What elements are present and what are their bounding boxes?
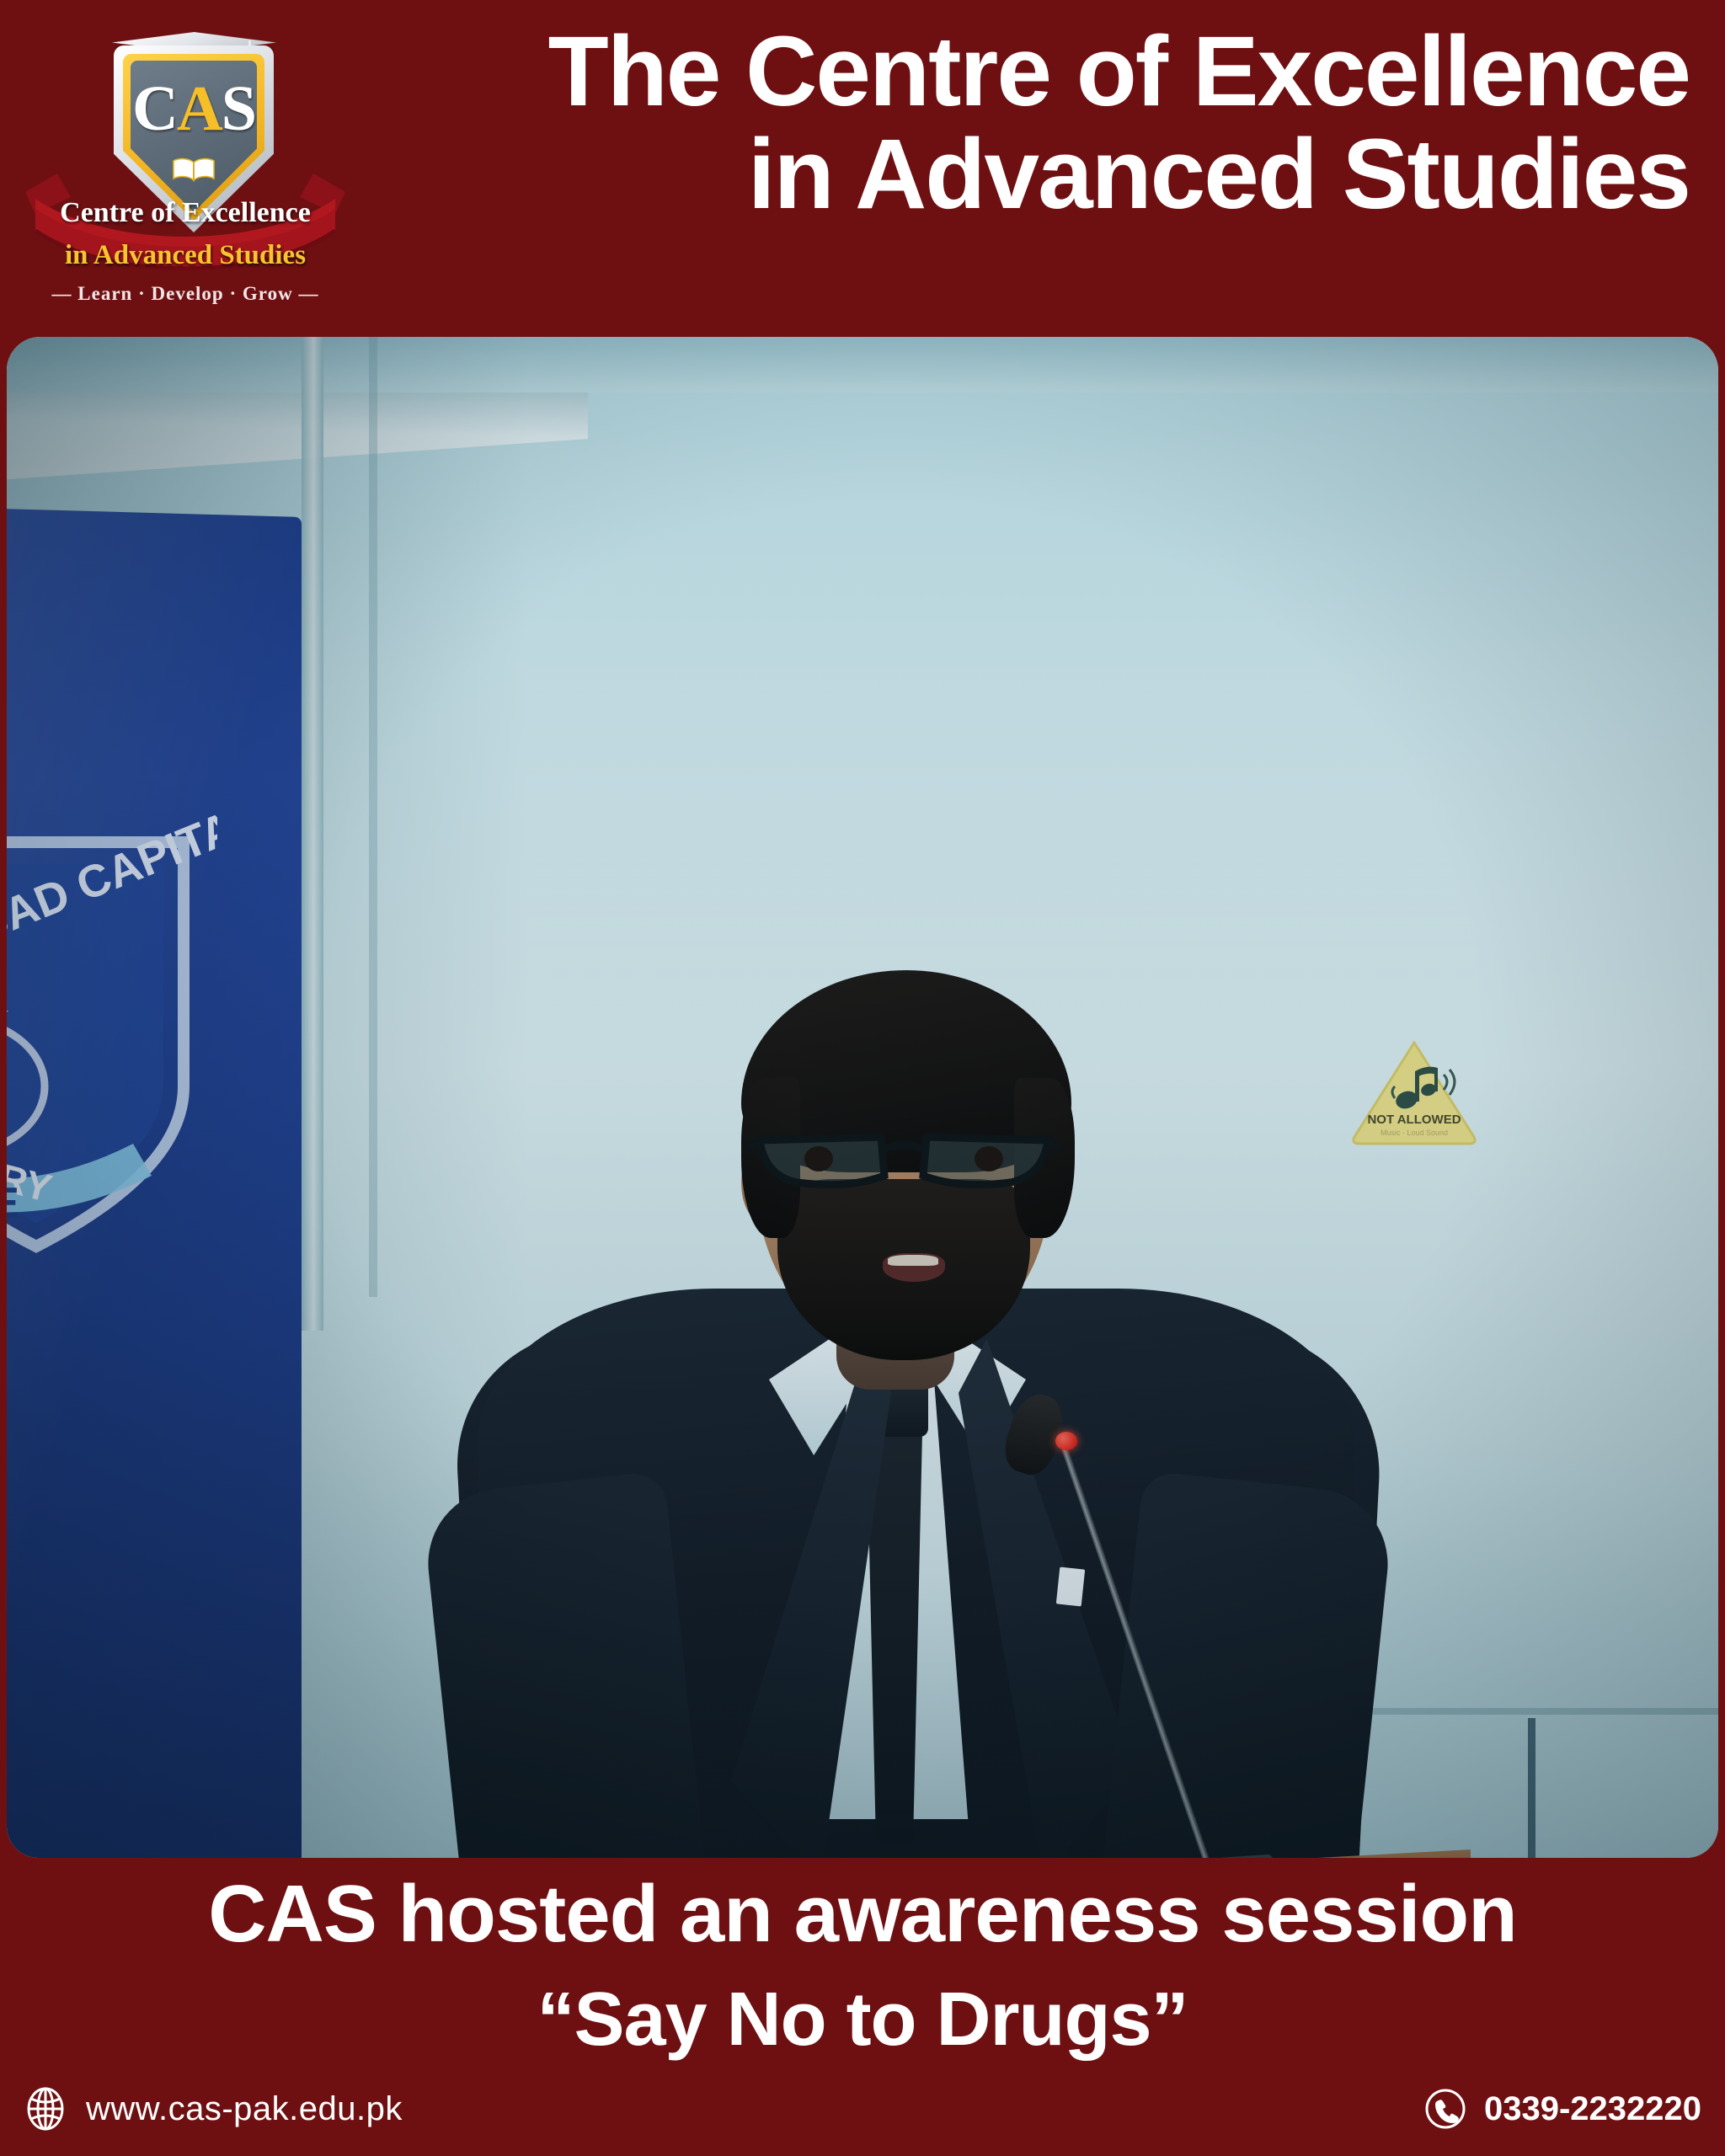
caption-line-1: CAS hosted an awareness session: [0, 1870, 1725, 1958]
website-url: www.cas-pak.edu.pk: [86, 2090, 403, 2128]
wall-seam-horizontal: [1321, 1708, 1718, 1715]
title-line-1: The Centre of Excellence: [328, 20, 1690, 123]
monogram-letter-a: A: [177, 73, 222, 144]
monogram-letter-c: C: [132, 73, 177, 144]
monogram-letter-s: S: [222, 73, 255, 144]
event-photo: BAD CAPITAL ⚖ RRITORY OLICE: [7, 337, 1718, 1858]
ribbon-line-2: in Advanced Studies: [17, 240, 354, 271]
footer-phone[interactable]: 0339-2232220: [1423, 2087, 1701, 2131]
police-crest-icon: BAD CAPITAL ⚖ RRITORY OLICE: [7, 808, 217, 1280]
poster-title: The Centre of Excellence in Advanced Stu…: [328, 20, 1710, 226]
ribbon-line-1: Centre of Excellence: [17, 197, 354, 229]
phone-number: 0339-2232220: [1484, 2090, 1701, 2128]
poster-root: CAS Centre of Excell: [0, 0, 1725, 2156]
microphone-led-indicator: [1055, 1432, 1077, 1450]
svg-text:Music · Loud Sound: Music · Loud Sound: [1381, 1129, 1448, 1137]
title-line-2: in Advanced Studies: [328, 123, 1690, 226]
pocket-square: [1056, 1567, 1085, 1607]
no-music-allowed-sign: NOT ALLOWED Music · Loud Sound: [1351, 1038, 1477, 1145]
phone-icon: [1423, 2087, 1467, 2131]
caption-line-2: “Say No to Drugs”: [0, 1978, 1725, 2061]
poster-header: CAS Centre of Excell: [0, 0, 1725, 337]
svg-text:OLICE: OLICE: [7, 1179, 24, 1228]
svg-text:NOT ALLOWED: NOT ALLOWED: [1367, 1113, 1461, 1127]
cas-logo: CAS Centre of Excell: [17, 7, 354, 335]
speaker-teeth: [888, 1255, 938, 1266]
eyeglasses-icon: [748, 1120, 1060, 1198]
globe-icon: [24, 2087, 67, 2131]
footer-website[interactable]: www.cas-pak.edu.pk: [24, 2087, 403, 2131]
wall-seam-vertical: [1528, 1718, 1535, 1858]
logo-tagline: — Learn · Develop · Grow —: [17, 283, 354, 305]
shield-monogram: CAS: [131, 77, 257, 141]
speaker-arm-left: [421, 1470, 713, 1858]
